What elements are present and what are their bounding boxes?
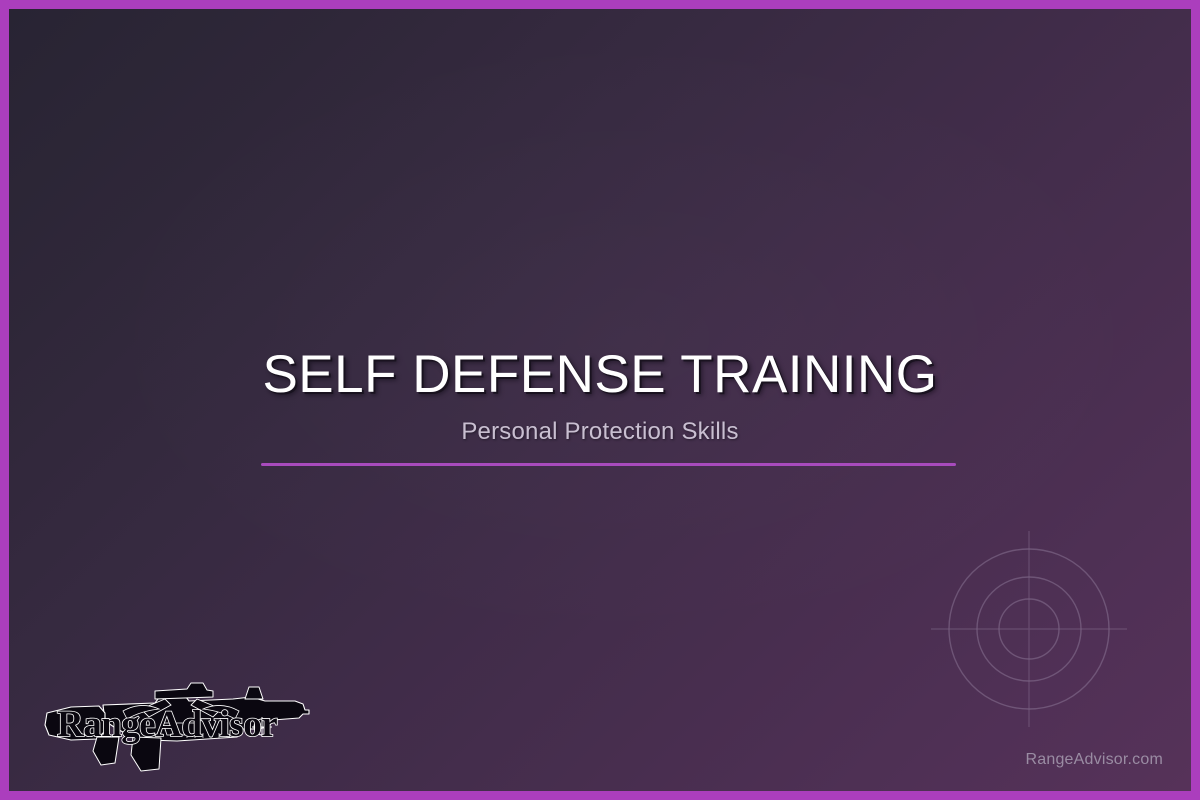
logo-wordmark: RangeAdvisor [57,704,277,745]
site-watermark: RangeAdvisor.com [1026,751,1164,769]
page-subtitle: Personal Protection Skills [9,418,1191,446]
presentation-slide: SELF DEFENSE TRAINING Personal Protectio… [0,0,1200,800]
target-crosshair-icon [920,520,1138,738]
brand-logo: RangeAdvisor [37,677,319,777]
page-title: SELF DEFENSE TRAINING [9,346,1191,404]
title-block: SELF DEFENSE TRAINING Personal Protectio… [9,346,1191,446]
title-divider-rule [261,463,956,466]
